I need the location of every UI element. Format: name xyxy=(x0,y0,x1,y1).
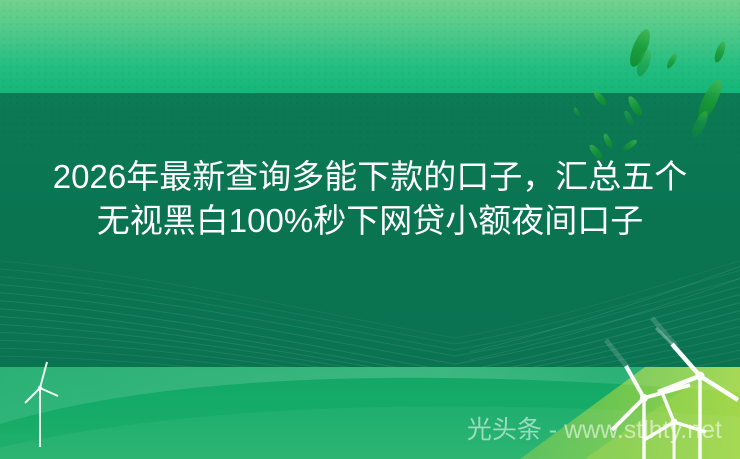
background-band-bottom xyxy=(0,367,740,459)
title-block: 2026年最新查询多能下款的口子，汇总五个无视黑白100%秒下网贷小额夜间口子 xyxy=(0,155,740,243)
halftone-dot-texture-middle xyxy=(0,93,740,153)
poster-canvas: 2026年最新查询多能下款的口子，汇总五个无视黑白100%秒下网贷小额夜间口子 … xyxy=(0,0,740,459)
page-title: 2026年最新查询多能下款的口子，汇总五个无视黑白100%秒下网贷小额夜间口子 xyxy=(38,155,702,243)
halftone-dot-texture-top xyxy=(0,0,740,93)
site-watermark: 光头条 - www.stlhty.net xyxy=(467,415,722,445)
